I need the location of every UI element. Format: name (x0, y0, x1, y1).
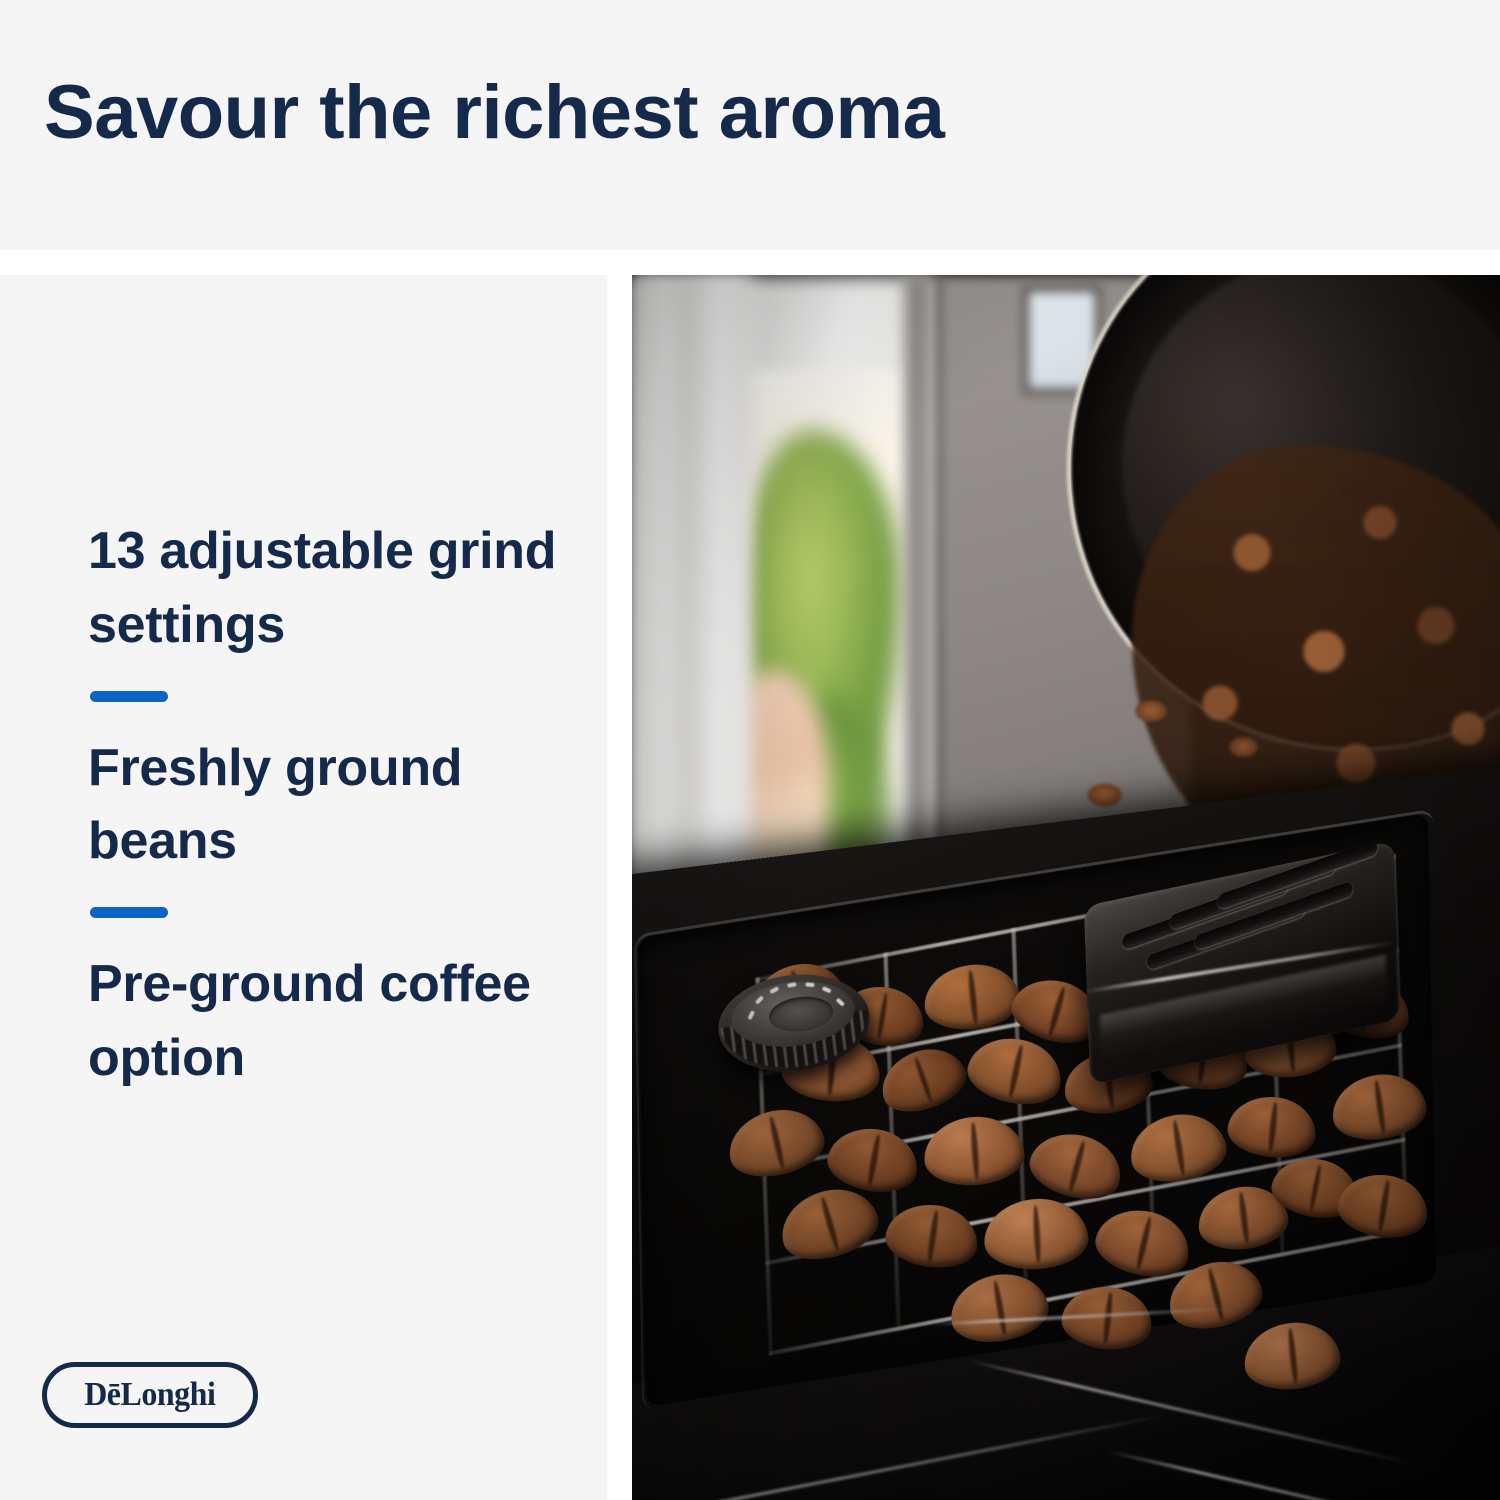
delonghi-logo: DēLonghi (42, 1362, 258, 1428)
photo-stage (632, 275, 1500, 1500)
feature-divider-1 (90, 691, 168, 702)
feature-list: 13 adjustable grind settings Freshly gro… (88, 515, 558, 1096)
knob-center (767, 993, 835, 1035)
product-photo (632, 275, 1500, 1500)
delonghi-logo-text: DēLonghi (84, 1376, 215, 1414)
feature-panel: 13 adjustable grind settings Freshly gro… (0, 275, 607, 1500)
header-band: Savour the richest aroma (0, 0, 1500, 250)
feature-item-freshly-ground: Freshly ground beans (88, 732, 558, 880)
promotional-banner: Savour the richest aroma 13 adjustable g… (0, 0, 1500, 1500)
feature-item-pre-ground: Pre-ground coffee option (88, 948, 558, 1096)
feature-divider-2 (90, 907, 168, 918)
feature-item-grind-settings: 13 adjustable grind settings (88, 515, 558, 663)
page-title: Savour the richest aroma (44, 72, 944, 154)
